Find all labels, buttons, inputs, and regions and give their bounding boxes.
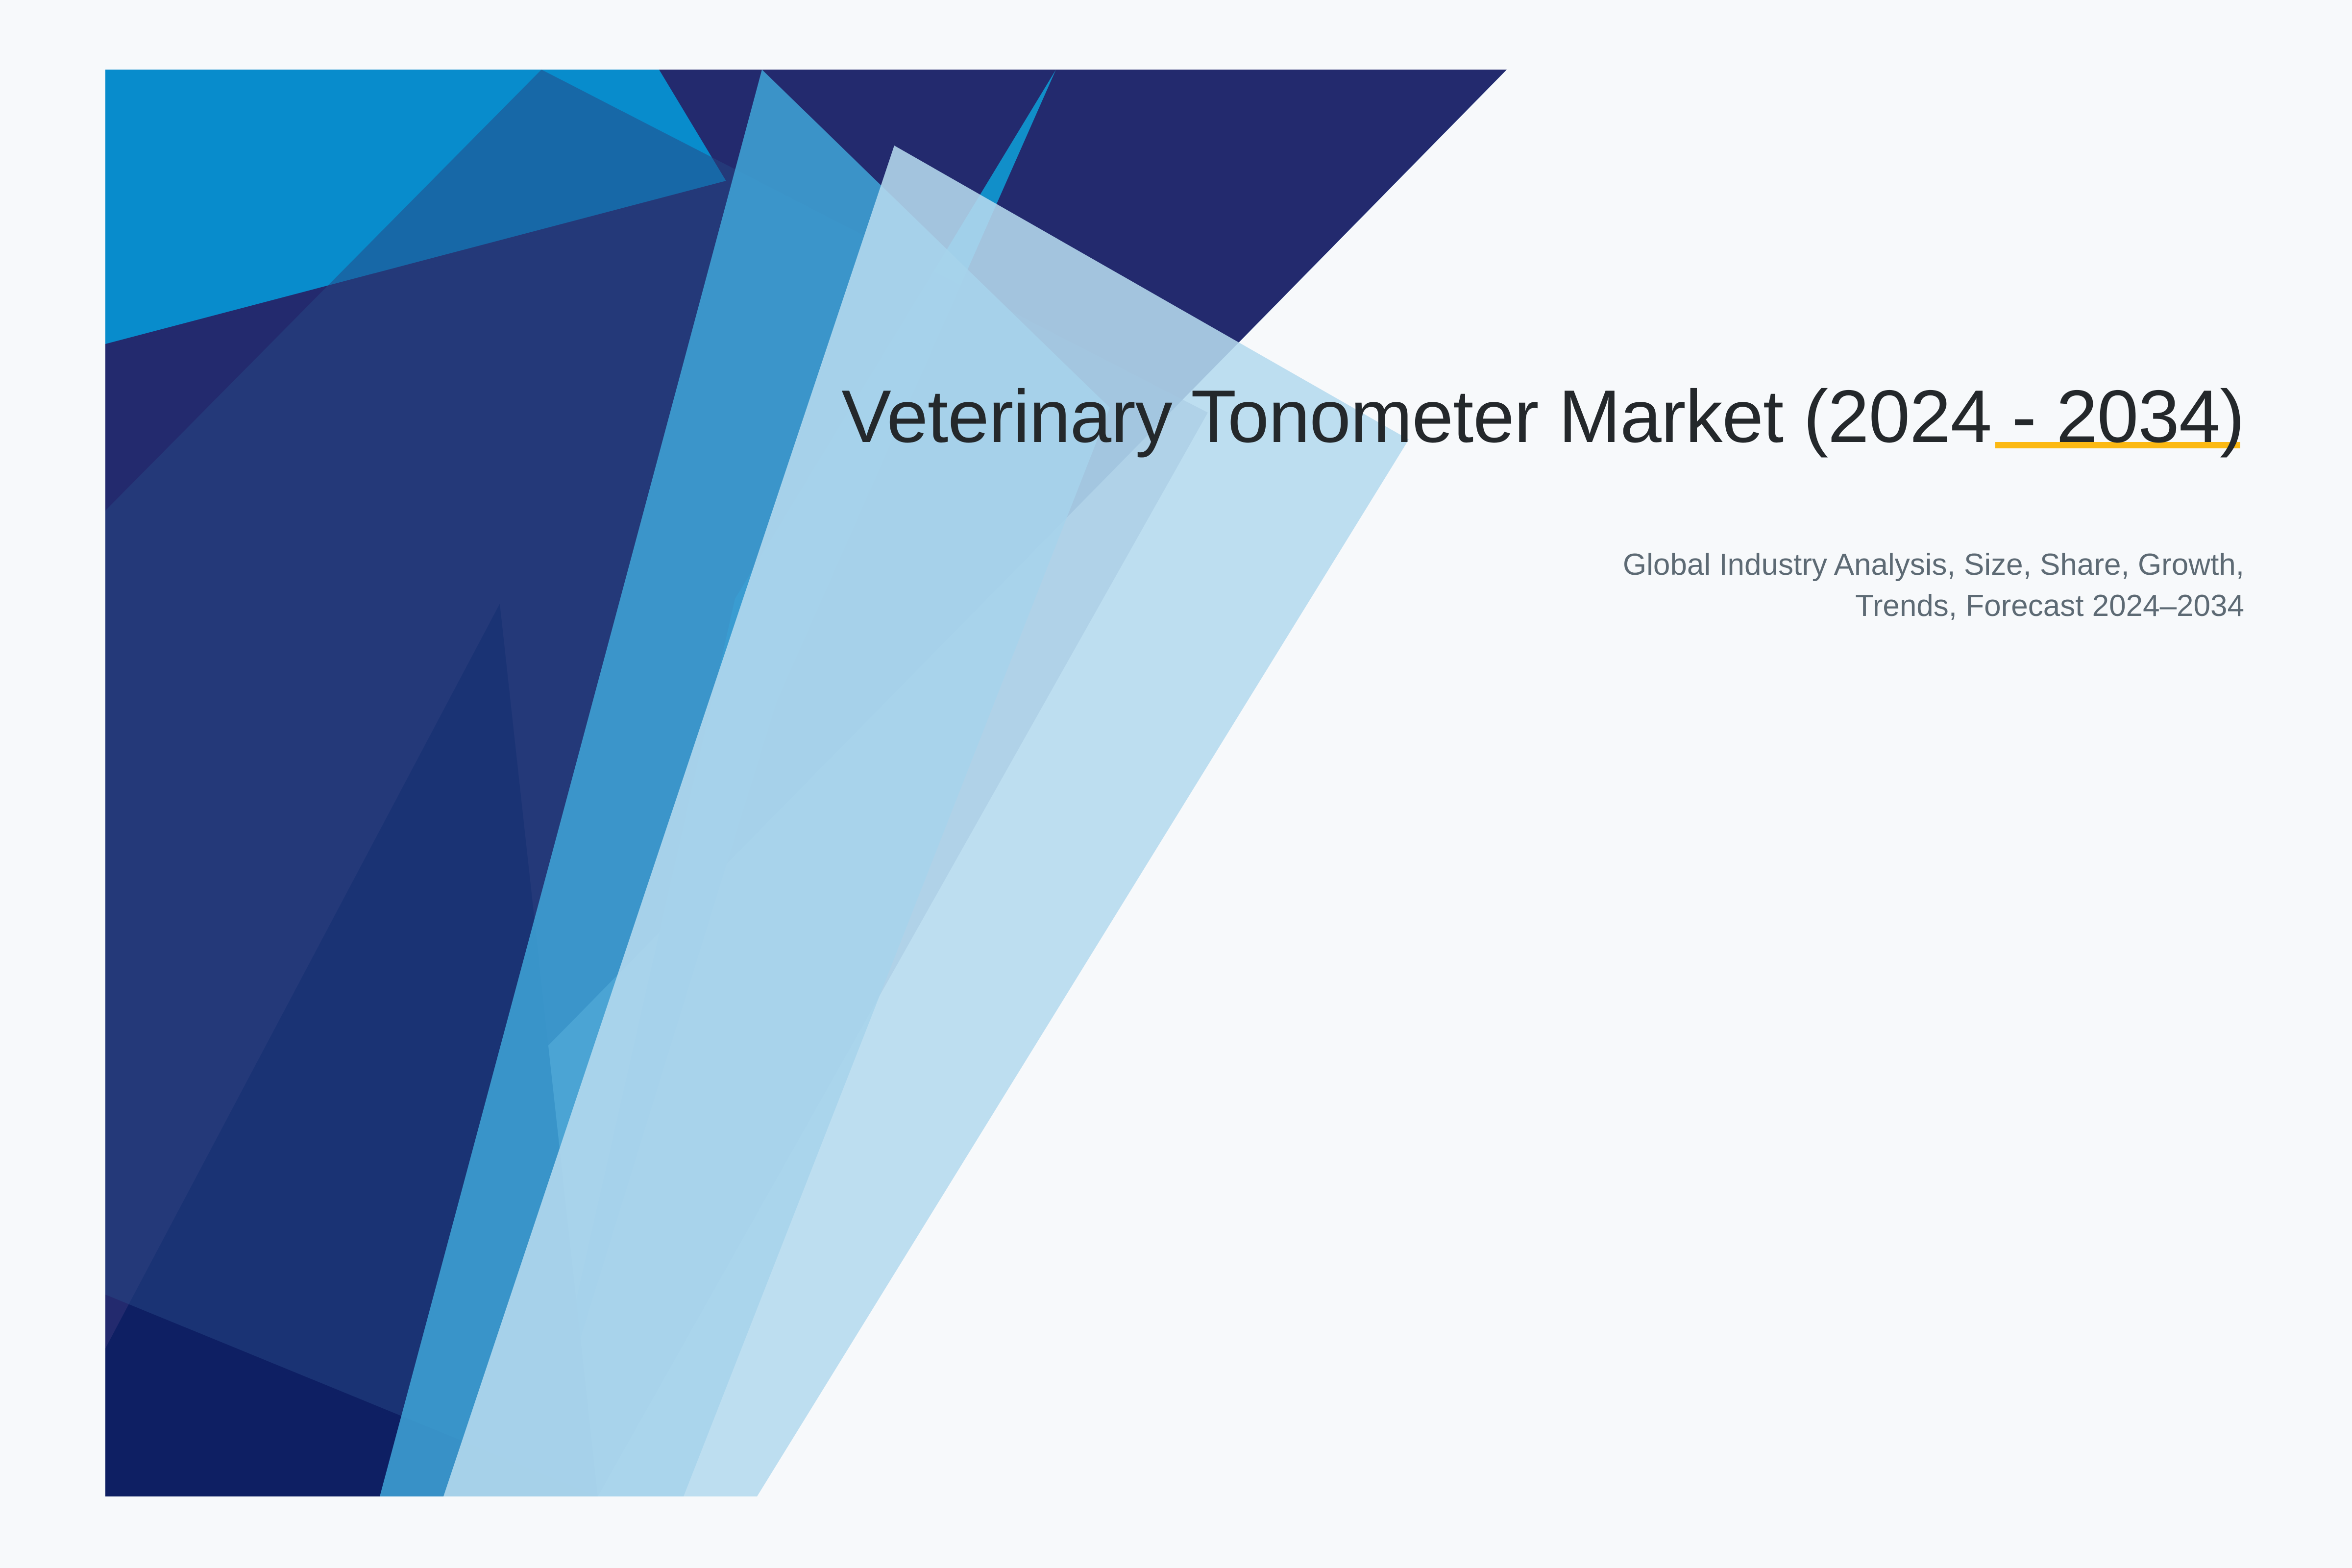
page-title: Veterinary Tonometer Market (2024 - 2034… — [823, 372, 2244, 461]
page-subtitle: Global Industry Analysis, Size, Share, G… — [1607, 544, 2244, 627]
cover-text-block: Veterinary Tonometer Market (2024 - 2034… — [823, 372, 2244, 627]
abstract-geometric-graphic — [105, 70, 1507, 1496]
artwork-panel — [105, 70, 1507, 1496]
title-wrapper: Veterinary Tonometer Market (2024 - 2034… — [823, 372, 2244, 461]
cover-page: Veterinary Tonometer Market (2024 - 2034… — [0, 0, 2352, 1568]
